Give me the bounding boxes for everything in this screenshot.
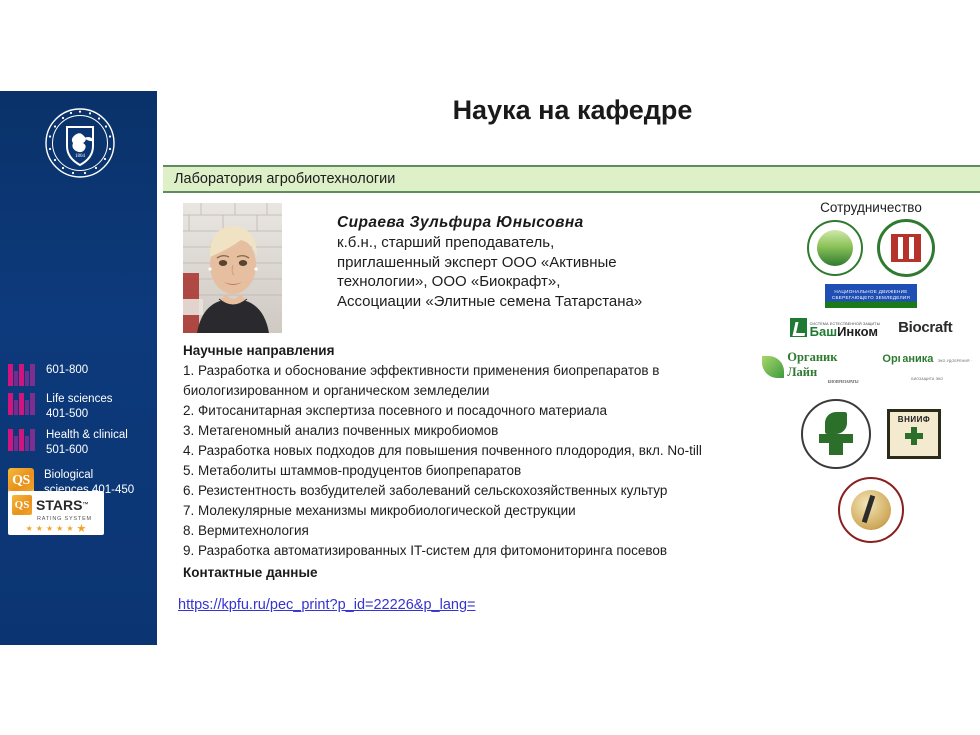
ranking-label: Biological xyxy=(44,469,93,481)
person-name: Сираева Зульфира Юнысовна xyxy=(337,214,767,232)
person-info: Сираева Зульфира Юнысовна к.б.н., старши… xyxy=(337,214,767,311)
star-icon: ★ xyxy=(66,525,73,533)
list-item: 7. Молекулярные механизмы микробиологиче… xyxy=(183,501,743,521)
partner-logo-national-movement-icon: НАЦИОНАЛЬНОЕ ДВИЖЕНИЕ СБЕРЕГАЮЩЕГО ЗЕМЛЕ… xyxy=(825,284,917,308)
ranking-item-the-overall: 601-800 xyxy=(0,363,157,386)
research-directions: Научные направления 1. Разработка и обос… xyxy=(183,343,743,561)
portrait-photo xyxy=(183,203,282,333)
the-logo-icon xyxy=(8,393,36,415)
star-icon: ★ xyxy=(56,525,63,533)
partner-logo-row: ВНИИФ xyxy=(762,399,980,469)
cross-icon xyxy=(905,427,923,445)
partner-logo-row: СИСТЕМА ЕСТЕСТВЕННОЙ ЗАЩИТЫ БашИнком Bio… xyxy=(762,318,980,337)
list-item: 5. Метаболиты штаммов-продуцентов биопре… xyxy=(183,461,743,481)
partner-logo-red-seal-icon xyxy=(838,477,904,543)
leaf-icon xyxy=(762,356,784,378)
ranking-label: Life sciences xyxy=(46,393,112,405)
ranking-item-the-health-clinical: Health & clinical 501-600 xyxy=(0,428,157,458)
presentation-slide: 1804 601-800 Life sciences 401-500 xyxy=(0,0,980,735)
list-item: 1. Разработка и обоснование эффективност… xyxy=(183,361,743,401)
organik-line-subtitle: БИОПРЕПАРАТЫ xyxy=(787,380,858,384)
organik-line-name: Органик Лайн xyxy=(787,350,837,379)
list-item: 9. Разработка автоматизированных IT-сист… xyxy=(183,541,743,561)
svg-text:1804: 1804 xyxy=(75,154,86,159)
partner-logo-biocraft: Biocraft xyxy=(898,319,952,336)
list-item: 8. Вермитехнология xyxy=(183,521,743,541)
bashincom-name-part-a: Баш xyxy=(810,324,837,339)
person-affiliation-line: Ассоциации «Элитные семена Татарстана» xyxy=(337,292,767,312)
trademark-symbol: ™ xyxy=(82,502,88,508)
list-item: 4. Разработка новых подходов для повышен… xyxy=(183,441,743,461)
national-banner-line-2: СБЕРЕГАЮЩЕГО ЗЕМЛЕДЕЛИЯ xyxy=(832,295,910,300)
star-icon: ★ xyxy=(76,525,86,533)
sidebar-rankings-panel: 1804 601-800 Life sciences 401-500 xyxy=(0,91,157,645)
star-icon: ★ xyxy=(26,525,33,533)
vniif-label: ВНИИФ xyxy=(898,415,930,424)
person-affiliation-line: приглашенный эксперт ООО «Активные xyxy=(337,253,767,273)
star-icon: ★ xyxy=(46,525,53,533)
section-banner: Лаборатория агробиотехнологии xyxy=(163,165,980,193)
qs-stars-word: STARS xyxy=(36,498,82,512)
partner-logo-row: Органик Лайн БИОПРЕПАРАТЫ Органика ЭКО-У… xyxy=(762,349,980,385)
person-affiliation-line: технологии», ООО «Биокрафт», xyxy=(337,272,767,292)
ranking-range: 501-600 xyxy=(46,443,128,458)
contacts-heading: Контактные данные xyxy=(183,565,318,580)
list-item: 2. Фитосанитарная экспертиза посевного и… xyxy=(183,401,743,421)
star-icon: ★ xyxy=(36,525,43,533)
ranking-item-the-life-sciences: Life sciences 401-500 xyxy=(0,392,157,422)
page-title: Наука на кафедре xyxy=(165,95,980,126)
list-item: 6. Резистентность возбудителей заболеван… xyxy=(183,481,743,501)
ranking-range: 401-500 xyxy=(46,407,112,422)
partners-heading: Сотрудничество xyxy=(762,200,980,215)
ranking-label: Health & clinical xyxy=(46,429,128,441)
national-banner-line-1: НАЦИОНАЛЬНОЕ ДВИЖЕНИЕ xyxy=(834,289,907,294)
qs-logo-icon: QS xyxy=(12,495,32,515)
the-logo-icon xyxy=(8,429,36,451)
ranking-value: Life sciences 401-500 xyxy=(46,392,112,422)
ranking-value: Health & clinical 501-600 xyxy=(46,428,128,458)
qs-stars-subtitle: RATING SYSTEM xyxy=(37,516,100,522)
partner-logo-field-seal-icon xyxy=(807,220,863,276)
partner-logo-row xyxy=(762,219,980,277)
partner-logo-wheat-seal-icon xyxy=(877,219,935,277)
partner-logo-organik-line-icon: Органик Лайн БИОПРЕПАРАТЫ xyxy=(762,350,858,384)
section-banner-label: Лаборатория агробиотехнологии xyxy=(174,171,395,187)
research-directions-heading: Научные направления xyxy=(183,343,743,358)
partners-section: Сотрудничество НАЦИОНАЛЬНОЕ ДВИЖЕНИЕ СБЕ… xyxy=(762,200,980,543)
ranking-value: 601-800 xyxy=(46,363,88,378)
contacts-link[interactable]: https://kpfu.ru/pec_print?p_id=22226&p_l… xyxy=(178,597,475,613)
qs-stars-badge: QS STARS ™ RATING SYSTEM ★ ★ ★ ★ ★ ★ xyxy=(8,491,104,535)
the-logo-icon xyxy=(8,364,36,386)
partner-logo-bashincom-icon: СИСТЕМА ЕСТЕСТВЕННОЙ ЗАЩИТЫ БашИнком xyxy=(790,318,880,337)
bashincom-name-part-b: Инком xyxy=(837,324,878,339)
partner-logo-vniif-icon: ВНИИФ xyxy=(887,409,941,459)
partner-logo-plant-institute-seal-icon xyxy=(801,399,871,469)
organika-name: Органика xyxy=(882,353,933,365)
kfu-emblem-icon: 1804 xyxy=(44,107,116,179)
person-affiliation-line: к.б.н., старший преподаватель, xyxy=(337,233,767,253)
list-item: 3. Метагеномный анализ почвенных микроби… xyxy=(183,421,743,441)
partner-logo-organika-icon: Органика ЭКО-УДОБРЕНИЯ · БИОЗАЩИТА ЭКО xyxy=(874,349,980,385)
star-rating-icons: ★ ★ ★ ★ ★ ★ xyxy=(12,525,100,533)
